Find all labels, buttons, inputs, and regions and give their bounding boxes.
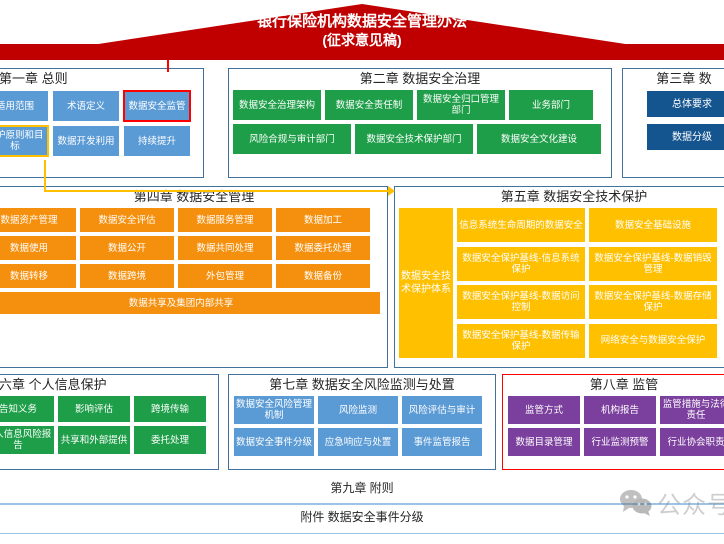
item-ch5-0[interactable]: 信息系统生命周期的数据安全 — [457, 208, 585, 242]
item-ch5-3[interactable]: 数据安全保护基线-数据销毁管理 — [589, 247, 717, 281]
item-ch7-4[interactable]: 应急响应与处置 — [318, 428, 398, 456]
chapter-2-title: 第二章 数据安全治理 — [229, 69, 611, 87]
title-banner: 银行保险机构数据安全管理办法 (征求意见稿) — [0, 0, 724, 60]
item-ch5-side[interactable]: 数据安全技术保护体系 — [399, 208, 453, 358]
item-ch6-2[interactable]: 跨境传输 — [134, 396, 206, 422]
item-ch3-1[interactable]: 数据分级 — [647, 124, 724, 150]
appendix-title: 附件 数据安全事件分级 — [300, 510, 423, 524]
item-ch4-7[interactable]: 数据委托处理 — [276, 236, 370, 260]
item-ch7-3[interactable]: 数据安全事件分级 — [234, 428, 314, 456]
item-ch1-1[interactable]: 术语定义 — [53, 91, 119, 121]
item-ch4-2[interactable]: 数据服务管理 — [178, 208, 272, 232]
connector-red-horizontal — [167, 60, 169, 62]
chapter-7-title: 第七章 数据安全风险监测与处置 — [229, 375, 495, 393]
item-ch6-1[interactable]: 影响评估 — [58, 396, 130, 422]
chapter-2-items: 数据安全治理架构 数据安全责任制 数据安全归口管理部门 业务部门 风险合规与审计… — [229, 87, 611, 157]
item-ch4-8[interactable]: 数据转移 — [0, 264, 76, 288]
chapter-6-panel[interactable]: 六章 个人信息保护 告知义务 影响评估 跨境传输 个人信息风险报告 共享和外部提… — [0, 374, 219, 470]
chapter-5-items: 信息系统生命周期的数据安全 数据安全基础设施 数据安全保护基线-信息系统保护 数… — [457, 208, 724, 358]
item-ch1-4[interactable]: 数据开发利用 — [53, 126, 119, 156]
item-ch5-1[interactable]: 数据安全基础设施 — [589, 208, 717, 242]
item-ch6-0[interactable]: 告知义务 — [0, 396, 54, 422]
item-ch4-0[interactable]: 数据资产管理 — [0, 208, 76, 232]
chapter-1-items: 适用范围 术语定义 数据安全监管 保护原则和目标 数据开发利用 持续提升 — [0, 87, 203, 160]
item-ch2-4[interactable]: 风险合规与审计部门 — [233, 124, 351, 154]
item-ch2-1[interactable]: 数据安全责任制 — [325, 90, 413, 120]
item-ch4-3[interactable]: 数据加工 — [276, 208, 370, 232]
item-ch1-0[interactable]: 适用范围 — [0, 91, 48, 121]
page-subtitle: (征求意见稿) — [0, 32, 724, 48]
item-ch8-5[interactable]: 行业协会职责 — [660, 428, 724, 456]
wechat-icon — [619, 489, 653, 517]
chapter-5-body: 数据安全技术保护体系 信息系统生命周期的数据安全 数据安全基础设施 数据安全保护… — [395, 205, 724, 361]
chapter-8-panel[interactable]: 第八章 监管 监管方式 机构报告 监管措施与法律责任 数据目录管理 行业监测预警… — [502, 374, 724, 470]
chapter-6-items: 告知义务 影响评估 跨境传输 个人信息风险报告 共享和外部提供 委托处理 — [0, 393, 218, 457]
chapter-3-panel[interactable]: 第三章 数 总体要求 数据分级 — [622, 68, 724, 178]
item-ch7-0[interactable]: 数据安全风险管理机制 — [234, 396, 314, 424]
item-ch6-3[interactable]: 个人信息风险报告 — [0, 426, 54, 454]
item-ch8-3[interactable]: 数据目录管理 — [508, 428, 580, 456]
item-ch2-3[interactable]: 业务部门 — [509, 90, 593, 120]
item-ch4-4[interactable]: 数据使用 — [0, 236, 76, 260]
chapter-4-panel[interactable]: 第四章 数据安全管理 数据资产管理 数据安全评估 数据服务管理 数据加工 数据使… — [0, 186, 388, 368]
chapter-6-title: 六章 个人信息保护 — [0, 375, 218, 393]
page-title: 银行保险机构数据安全管理办法 — [0, 14, 724, 30]
item-ch4-6[interactable]: 数据共同处理 — [178, 236, 272, 260]
item-ch8-0[interactable]: 监管方式 — [508, 396, 580, 424]
item-ch1-2[interactable]: 数据安全监管 — [124, 91, 190, 121]
item-ch5-2[interactable]: 数据安全保护基线-信息系统保护 — [457, 247, 585, 281]
item-ch2-6[interactable]: 数据安全文化建设 — [477, 124, 601, 154]
item-ch3-0[interactable]: 总体要求 — [647, 91, 724, 117]
item-ch6-5[interactable]: 委托处理 — [134, 426, 206, 454]
chapter-1-title: 第一章 总则 — [0, 69, 203, 87]
item-ch5-6[interactable]: 数据安全保护基线-数据传输保护 — [457, 324, 585, 358]
item-ch2-0[interactable]: 数据安全治理架构 — [233, 90, 321, 120]
chapter-7-items: 数据安全风险管理机制 风险监测 风险评估与审计 数据安全事件分级 应急响应与处置… — [229, 393, 495, 459]
chapter-3-title: 第三章 数 — [623, 69, 724, 87]
appendix-bar[interactable]: 附件 数据安全事件分级 — [0, 504, 724, 534]
item-ch8-2[interactable]: 监管措施与法律责任 — [660, 396, 724, 424]
chapter-8-title: 第八章 监管 — [503, 375, 724, 393]
item-ch1-5[interactable]: 持续提升 — [124, 126, 190, 156]
chapter-9-title: 第九章 附则 — [330, 481, 393, 495]
item-ch7-5[interactable]: 事件监管报告 — [402, 428, 482, 456]
chapter-8-items: 监管方式 机构报告 监管措施与法律责任 数据目录管理 行业监测预警 行业协会职责 — [503, 393, 724, 459]
item-ch4-10[interactable]: 外包管理 — [178, 264, 272, 288]
item-ch7-2[interactable]: 风险评估与审计 — [402, 396, 482, 424]
chapter-7-panel[interactable]: 第七章 数据安全风险监测与处置 数据安全风险管理机制 风险监测 风险评估与审计 … — [228, 374, 496, 470]
watermark: 公众号 — [619, 485, 724, 520]
chapter-5-panel[interactable]: 第五章 数据安全技术保护 数据安全技术保护体系 信息系统生命周期的数据安全 数据… — [394, 186, 724, 368]
connector-gold-horizontal — [44, 190, 392, 192]
chapter-1-panel[interactable]: 第一章 总则 适用范围 术语定义 数据安全监管 保护原则和目标 数据开发利用 持… — [0, 68, 204, 178]
item-ch6-4[interactable]: 共享和外部提供 — [58, 426, 130, 454]
chapter-4-items: 数据资产管理 数据安全评估 数据服务管理 数据加工 数据使用 数据公开 数据共同… — [0, 205, 387, 317]
chapter-2-panel[interactable]: 第二章 数据安全治理 数据安全治理架构 数据安全责任制 数据安全归口管理部门 业… — [228, 68, 612, 178]
item-ch5-7[interactable]: 网络安全与数据安全保护 — [589, 324, 717, 358]
item-ch5-4[interactable]: 数据安全保护基线-数据访问控制 — [457, 285, 585, 319]
connector-gold-vertical — [44, 160, 46, 190]
item-ch4-11[interactable]: 数据备份 — [276, 264, 370, 288]
item-ch1-3[interactable]: 保护原则和目标 — [0, 126, 48, 156]
connector-gold-arrow — [388, 186, 395, 196]
item-ch8-4[interactable]: 行业监测预警 — [584, 428, 656, 456]
item-ch4-5[interactable]: 数据公开 — [80, 236, 174, 260]
watermark-text: 公众号 — [657, 485, 724, 520]
item-ch4-shared[interactable]: 数据共享及集团内部共享 — [0, 292, 380, 314]
item-ch4-9[interactable]: 数据跨境 — [80, 264, 174, 288]
chapter-5-title: 第五章 数据安全技术保护 — [395, 187, 724, 205]
item-ch2-5[interactable]: 数据安全技术保护部门 — [355, 124, 473, 154]
item-ch2-2[interactable]: 数据安全归口管理部门 — [417, 90, 505, 120]
item-ch8-1[interactable]: 机构报告 — [584, 396, 656, 424]
item-ch7-1[interactable]: 风险监测 — [318, 396, 398, 424]
item-ch5-5[interactable]: 数据安全保护基线-数据存储保护 — [589, 285, 717, 319]
item-ch4-1[interactable]: 数据安全评估 — [80, 208, 174, 232]
chapter-9-bar[interactable]: 第九章 附则 — [0, 476, 724, 504]
chapter-3-items: 总体要求 数据分级 — [623, 87, 724, 150]
